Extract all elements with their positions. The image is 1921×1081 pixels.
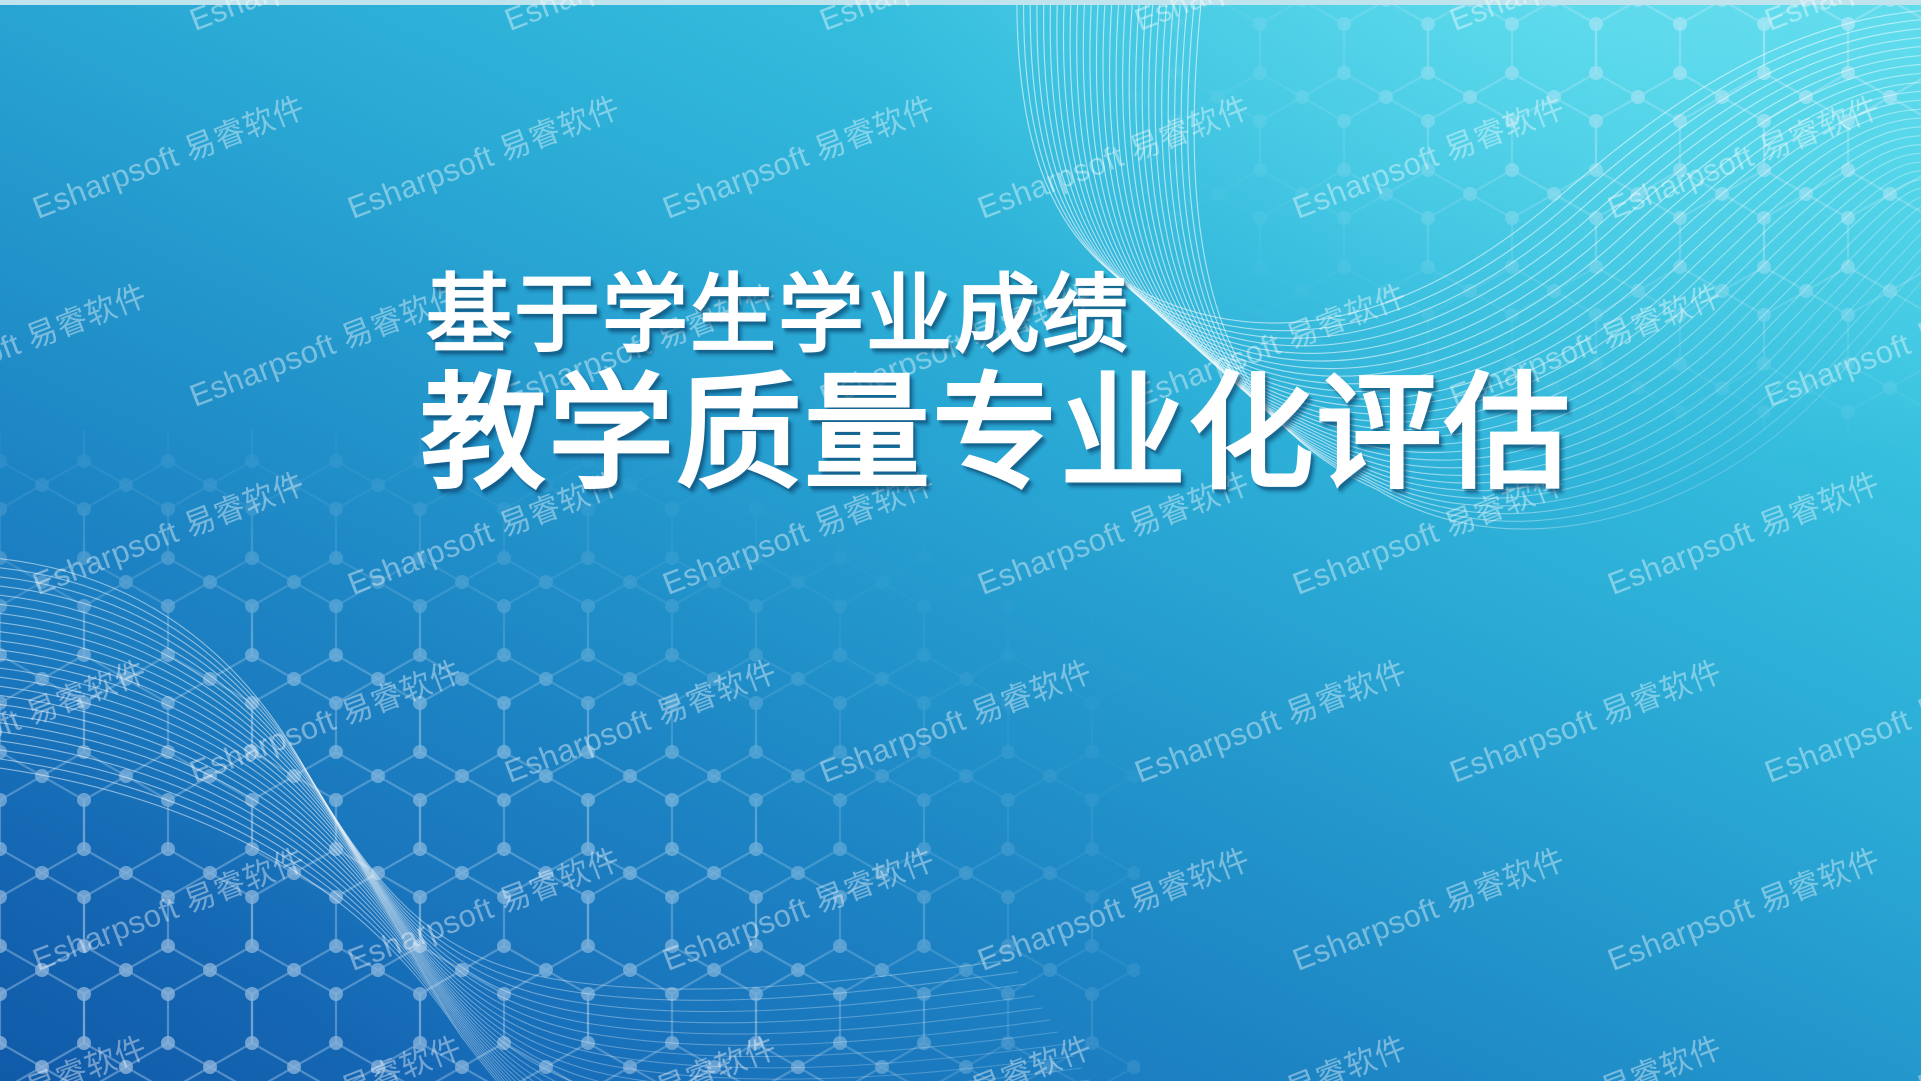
title-line-secondary: 教学质量专业化评估 [420, 370, 1600, 499]
decorative-graphics [0, 0, 1921, 1081]
title-block: 基于学生学业成绩 教学质量专业化评估 [420, 272, 1600, 498]
slide-canvas: Esharpsoft 易睿软件Esharpsoft 易睿软件Esharpsoft… [0, 0, 1921, 1081]
hex-mesh-bottom-left [0, 430, 1140, 1081]
top-edge-strip [0, 0, 1921, 5]
title-line-primary: 基于学生学业成绩 [426, 272, 1600, 360]
